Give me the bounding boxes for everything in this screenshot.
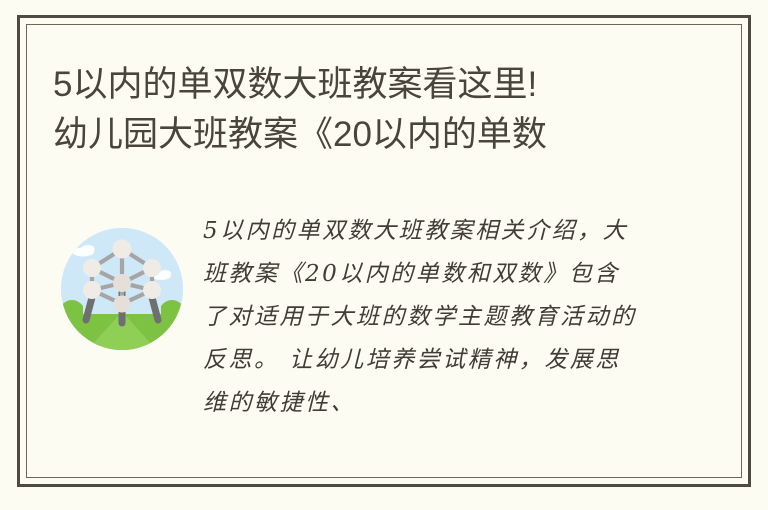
article-card-page: 5以内的单双数大班教案看这里! 幼儿园大班教案《20以内的单数 <box>0 0 768 510</box>
atomium-landmark-illustration <box>61 228 183 350</box>
page-title: 5以内的单双数大班教案看这里! 幼儿园大班教案《20以内的单数 <box>53 60 728 160</box>
atomium-icon <box>61 228 183 350</box>
title-line-1: 5以内的单双数大班教案看这里! <box>53 60 728 110</box>
article-body-text: 5以内的单双数大班教案相关介绍，大班教案《20以内的单数和双数》包含了对适用于大… <box>203 210 643 425</box>
body-text-container: 5以内的单双数大班教案相关介绍，大班教案《20以内的单数和双数》包含了对适用于大… <box>193 210 724 425</box>
illustration-container <box>53 210 193 350</box>
card-outer-frame: 5以内的单双数大班教案看这里! 幼儿园大班教案《20以内的单数 <box>17 15 751 487</box>
content-row: 5以内的单双数大班教案相关介绍，大班教案《20以内的单数和双数》包含了对适用于大… <box>53 210 724 425</box>
title-line-2: 幼儿园大班教案《20以内的单数 <box>53 110 728 160</box>
